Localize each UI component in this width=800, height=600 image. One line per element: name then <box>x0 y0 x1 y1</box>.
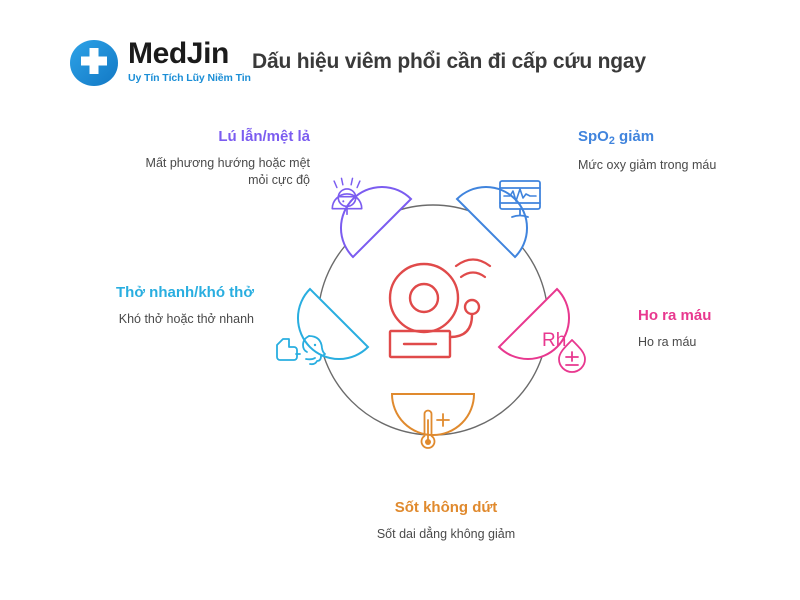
callout-spo2-title-pre: SpO <box>578 128 609 145</box>
callout-fever: Sốt không dứt Sốt dai dẳng không giảm <box>356 498 536 543</box>
badge-fever[interactable] <box>392 394 474 448</box>
badge-fever-shape <box>392 394 474 435</box>
callout-spo2: SpO2 giảm Mức oxy giảm trong máu <box>578 127 758 174</box>
callout-spo2-title-post: giảm <box>615 128 654 145</box>
callout-spo2-desc: Mức oxy giảm trong máu <box>578 157 758 174</box>
callout-cough-title: Ho ra máu <box>638 306 800 325</box>
infographic-diagram: Rh Lú lẫn/mệt lả Mất phươn <box>0 0 800 600</box>
badge-breathing[interactable] <box>277 289 368 376</box>
callout-cough-desc: Ho ra máu <box>638 334 800 351</box>
badge-spo2[interactable] <box>457 170 544 257</box>
callout-confusion-title: Lú lẫn/mệt lả <box>128 127 310 146</box>
callout-cough: Ho ra máu Ho ra máu <box>638 306 800 351</box>
alarm-bell-icon <box>390 260 490 358</box>
callout-fever-desc: Sốt dai dẳng không giảm <box>356 526 536 543</box>
badge-confusion-shape <box>324 170 411 257</box>
callout-spo2-title-sub: 2 <box>609 135 615 147</box>
rh-label: Rh <box>542 330 566 351</box>
callout-confusion-desc: Mất phương hướng hoặc mệt mỏi cực độ <box>128 155 310 189</box>
callout-fever-title: Sốt không dứt <box>356 498 536 517</box>
callout-breathing-title: Thở nhanh/khó thở <box>72 283 254 302</box>
callout-confusion: Lú lẫn/mệt lả Mất phương hướng hoặc mệt … <box>128 127 310 189</box>
badge-confusion[interactable] <box>324 170 411 257</box>
callout-breathing: Thở nhanh/khó thở Khó thở hoặc thở nhanh <box>72 283 254 328</box>
badge-cough[interactable]: Rh <box>499 289 586 376</box>
callout-spo2-title: SpO2 giảm <box>578 127 758 148</box>
callout-breathing-desc: Khó thở hoặc thở nhanh <box>72 311 254 328</box>
badge-breathing-shape <box>281 289 368 376</box>
